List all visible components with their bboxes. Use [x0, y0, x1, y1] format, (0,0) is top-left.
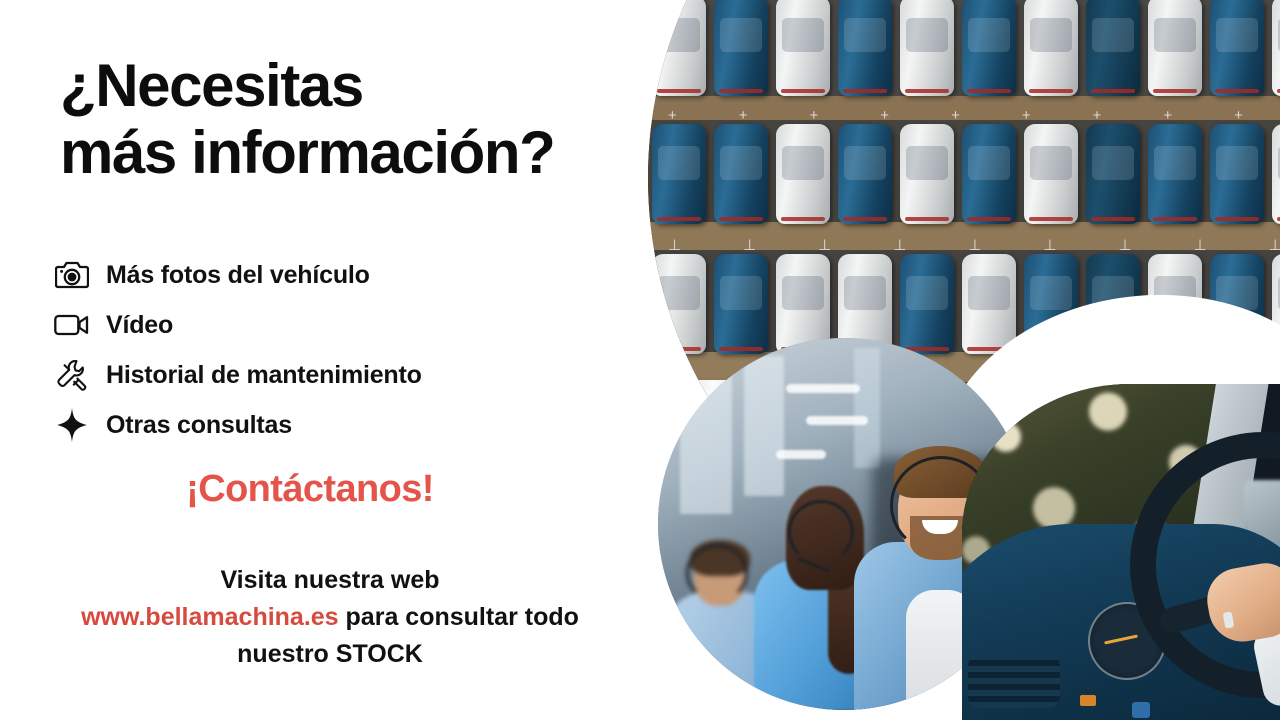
- car-row: [648, 0, 1280, 96]
- headline-line-2: más información?: [60, 119, 660, 186]
- driving-scene: [962, 384, 1280, 720]
- list-item: Historial de mantenimiento: [52, 350, 652, 400]
- footer-line-3: nuestro STOCK: [0, 636, 660, 673]
- list-item: Vídeo: [52, 300, 652, 350]
- dashboard-button: [1080, 695, 1096, 706]
- video-icon: [52, 305, 92, 345]
- sparkle-icon: [52, 405, 92, 445]
- feature-list: Más fotos del vehículo Vídeo: [52, 250, 652, 450]
- parking-plus-markers: +++++ +++++ ++: [648, 108, 1280, 123]
- list-item-label: Vídeo: [106, 311, 173, 340]
- parking-slot-markers: ⊥⊥⊥⊥⊥ ⊥⊥⊥⊥⊥ ⊥⊥: [648, 238, 1280, 253]
- cta-text: ¡Contáctanos!: [0, 468, 620, 511]
- dashboard-button: [1132, 702, 1150, 718]
- camera-icon: [52, 255, 92, 295]
- headline-line-1: ¿Necesitas: [60, 52, 363, 119]
- list-item: Otras consultas: [52, 400, 652, 450]
- page-title: ¿Necesitas más información?: [60, 52, 660, 186]
- driving-image: [962, 384, 1280, 720]
- list-item-label: Más fotos del vehículo: [106, 261, 370, 290]
- footer-text: Visita nuestra web www.bellamachina.es p…: [0, 562, 660, 673]
- air-vent: [968, 654, 1060, 708]
- list-item-label: Otras consultas: [106, 411, 292, 440]
- footer-line-2: www.bellamachina.es para consultar todo: [0, 599, 660, 636]
- text-content: ¿Necesitas más información? Más fotos de…: [0, 0, 660, 720]
- car-row: [648, 124, 1280, 224]
- footer-line-1: Visita nuestra web: [0, 562, 660, 599]
- footer-line-2-rest: para consultar todo: [339, 603, 579, 631]
- list-item: Más fotos del vehículo: [52, 250, 652, 300]
- website-url[interactable]: www.bellamachina.es: [81, 603, 339, 631]
- promo-banner: +++++ +++++ ++ ⊥⊥⊥⊥⊥ ⊥⊥⊥⊥⊥ ⊥⊥: [0, 0, 1280, 720]
- tools-icon: [52, 355, 92, 395]
- list-item-label: Historial de mantenimiento: [106, 361, 422, 390]
